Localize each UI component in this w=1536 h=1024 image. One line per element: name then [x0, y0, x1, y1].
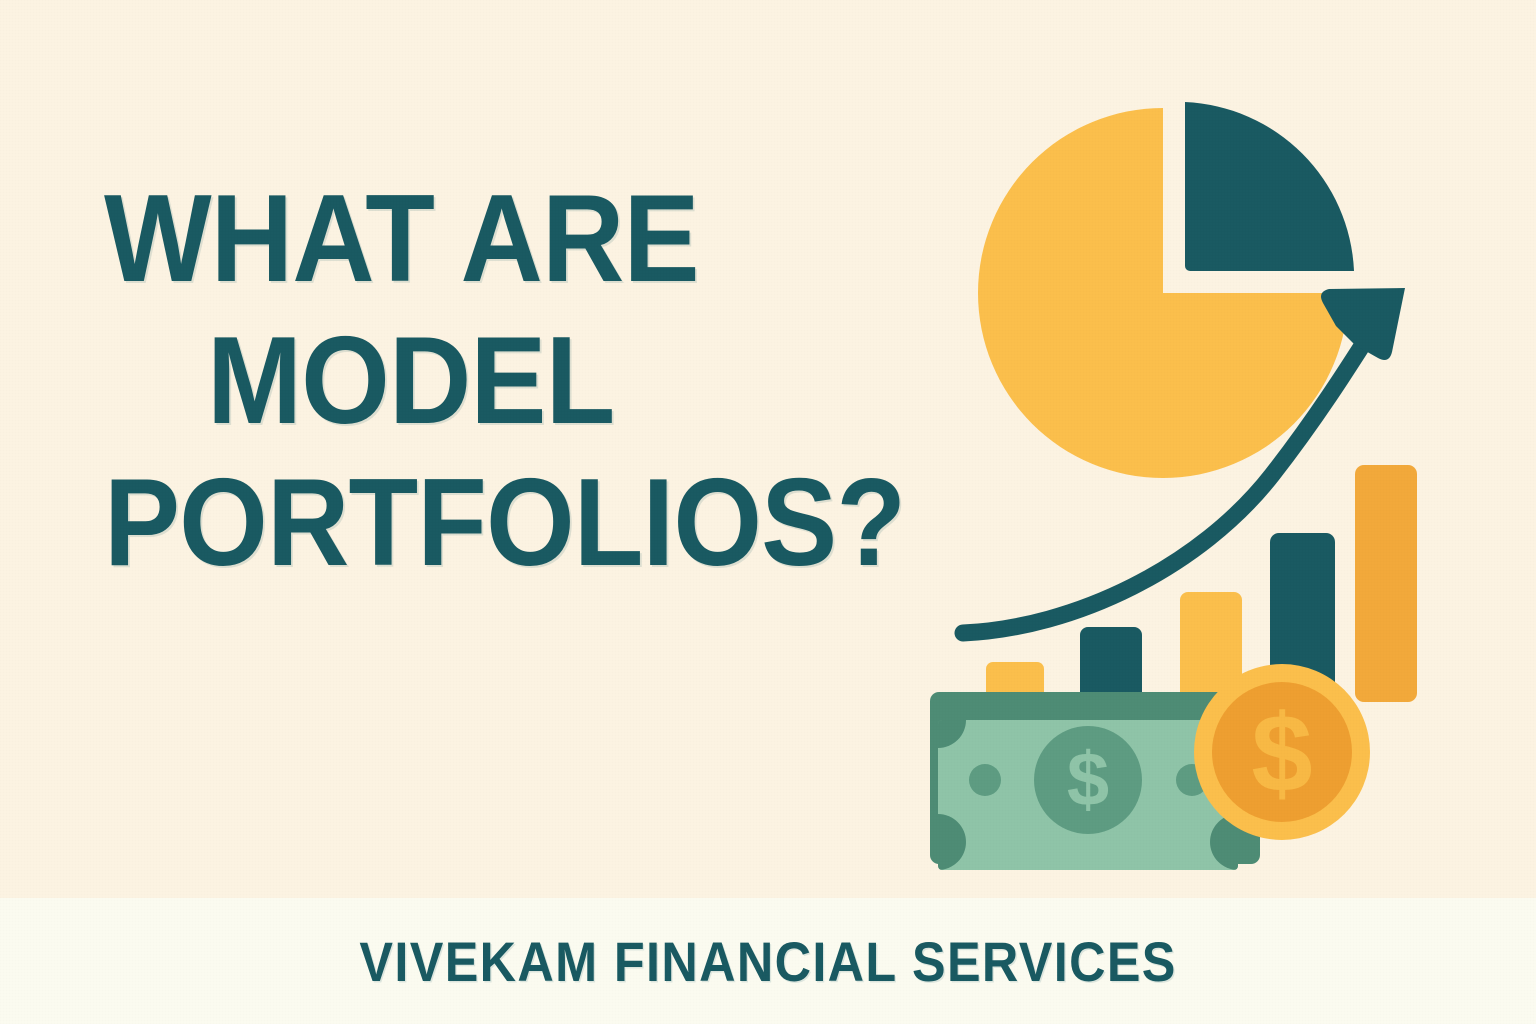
bar-5 [1355, 465, 1417, 702]
coin: $ [1194, 664, 1370, 840]
headline-line-2: MODEL [104, 310, 803, 452]
banknote-dot-left [969, 764, 1001, 796]
pie-slice-minor [1185, 102, 1354, 271]
headline-line-1: WHAT ARE [104, 168, 803, 310]
headline: WHAT ARE MODEL PORTFOLIOS? [104, 168, 864, 594]
promo-card: WHAT ARE MODEL PORTFOLIOS? [0, 0, 1536, 1024]
footer: VIVEKAM FINANCIAL SERVICES [0, 898, 1536, 1024]
banknote-dollar-icon: $ [1067, 738, 1109, 823]
brand-name: VIVEKAM FINANCIAL SERVICES [359, 929, 1176, 994]
coin-dollar-icon: $ [1251, 693, 1312, 816]
bar-2 [1080, 627, 1142, 702]
headline-line-3: PORTFOLIOS? [104, 452, 803, 594]
finance-growth-illustration: $ $ [900, 80, 1480, 880]
bar-chart [986, 465, 1417, 702]
pie-chart [978, 102, 1354, 478]
